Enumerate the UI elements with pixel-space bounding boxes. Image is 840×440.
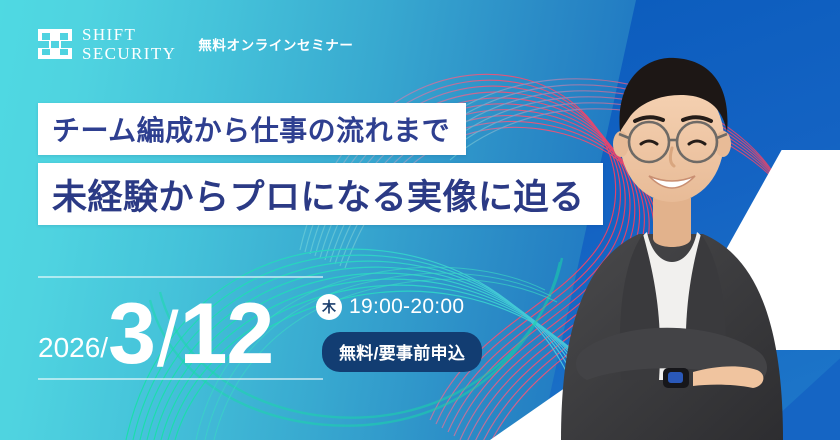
header: SHIFT SECURITY 無料オンラインセミナー [38, 26, 353, 62]
weekday-badge: 木 [316, 294, 342, 320]
headline-line1: チーム編成から仕事の流れまで [38, 103, 466, 155]
speaker-portrait [543, 20, 798, 440]
date-separator: / [155, 302, 180, 376]
shift-security-blocks-icon [38, 29, 72, 59]
brand-lockup[interactable]: SHIFT SECURITY [38, 26, 176, 62]
event-date-block: 2026/ 3 / 12 [38, 282, 273, 376]
event-time: 19:00-20:00 [349, 295, 464, 319]
event-time-row: 木 19:00-20:00 [316, 294, 464, 320]
event-month: 3 [108, 294, 155, 376]
seminar-label: 無料オンラインセミナー [198, 34, 353, 54]
brand-name-line2: SECURITY [82, 45, 176, 62]
event-day: 12 [180, 294, 274, 376]
webinar-banner: SHIFT SECURITY 無料オンラインセミナー チーム編成から仕事の流れま… [0, 0, 840, 440]
brand-wordmark: SHIFT SECURITY [82, 26, 176, 62]
brand-name-line1: SHIFT [82, 26, 176, 43]
price-note-pill: 無料/要事前申込 [322, 332, 482, 372]
event-month-day: 3 / 12 [108, 294, 273, 376]
headline-line2: 未経験からプロになる実像に迫る [38, 163, 603, 225]
event-year: 2026/ [38, 332, 108, 376]
divider-top [38, 276, 323, 278]
